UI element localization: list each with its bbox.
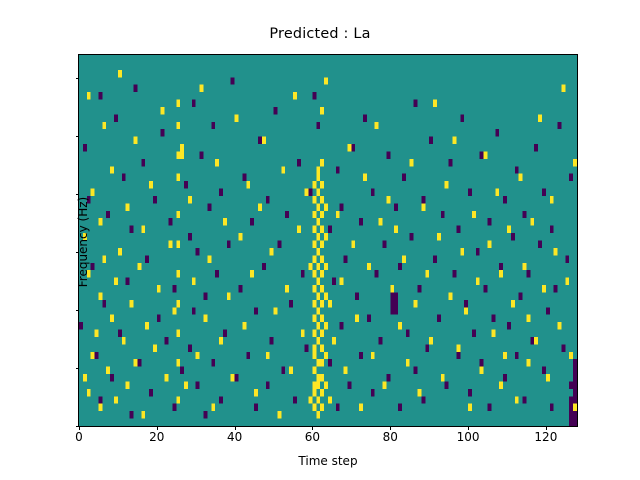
heatmap-cell-high (91, 189, 95, 196)
heatmap-cell-low (192, 307, 196, 314)
heatmap-cell-high (320, 344, 324, 351)
heatmap-cell-low (421, 396, 425, 403)
heatmap-cell-low (254, 307, 258, 314)
heatmap-cell-low (219, 189, 223, 196)
heatmap-cell-low (301, 270, 305, 277)
heatmap-cell-low (565, 255, 569, 262)
heatmap-cell-low (305, 344, 309, 351)
heatmap-cell-low (503, 196, 507, 203)
heatmap-cell-low (188, 233, 192, 240)
x-tick-mark (79, 426, 80, 430)
heatmap-cell-low (499, 263, 503, 270)
heatmap-cell-low (449, 159, 453, 166)
heatmap-cell-high (312, 285, 316, 292)
heatmap-cell-high (523, 263, 527, 270)
y-tick-mark (76, 252, 80, 253)
heatmap-cell-low (157, 315, 161, 322)
heatmap-cell-high (394, 226, 398, 233)
heatmap-cell-high (425, 270, 429, 277)
heatmap-cell-low (398, 404, 402, 411)
heatmap-cell-low (464, 300, 468, 307)
heatmap-cell-low (382, 241, 386, 248)
heatmap-cell-high (488, 241, 492, 248)
heatmap-cell-low (223, 330, 227, 337)
heatmap-cell-high (312, 226, 316, 233)
heatmap-cell-high (172, 307, 176, 314)
heatmap-cell-low (468, 189, 472, 196)
heatmap-cell-low (274, 107, 278, 114)
heatmap-cell-high (554, 248, 558, 255)
heatmap-cell-high (456, 344, 460, 351)
heatmap-cell-high (550, 196, 554, 203)
heatmap-cell-low (246, 352, 250, 359)
heatmap-cell-high (312, 211, 316, 218)
heatmap-cell-high (312, 389, 316, 396)
heatmap-cell-high (460, 248, 464, 255)
x-tick-label: 60 (272, 430, 352, 444)
heatmap-cell-high (511, 300, 515, 307)
heatmap-cell-high (235, 114, 239, 121)
heatmap-cell-high (402, 255, 406, 262)
heatmap-cell-low (102, 300, 106, 307)
heatmap-axes: Frequency (Hz) Time step 020406080100120… (78, 54, 578, 427)
x-tick-mark (468, 426, 469, 430)
heatmap-cell-low (211, 122, 215, 129)
heatmap-cell-low (569, 396, 573, 403)
heatmap-cell-low (200, 151, 204, 158)
heatmap-cell-high (476, 278, 480, 285)
y-tick-mark (76, 426, 80, 427)
heatmap-cell-high (316, 248, 320, 255)
heatmap-cell-low (293, 396, 297, 403)
heatmap-cell-high (141, 226, 145, 233)
heatmap-cell-high (320, 159, 324, 166)
heatmap-cell-high (421, 203, 425, 210)
heatmap-cell-low (445, 381, 449, 388)
heatmap-cell-low (250, 218, 254, 225)
heatmap-cell-high (114, 396, 118, 403)
heatmap-cell-low (456, 226, 460, 233)
heatmap-cell-low (425, 344, 429, 351)
heatmap-cell-high (98, 218, 102, 225)
heatmap-cell-high (526, 359, 530, 366)
heatmap-cell-high (379, 218, 383, 225)
heatmap-cell-high (106, 367, 110, 374)
heatmap-cell-low (227, 241, 231, 248)
heatmap-cell-high (316, 337, 320, 344)
heatmap-cell-low (95, 352, 99, 359)
heatmap-cell-high (320, 359, 324, 366)
heatmap-cell-low (390, 292, 394, 299)
heatmap-cell-low (523, 211, 527, 218)
heatmap-cell-low (180, 367, 184, 374)
heatmap-cell-high (316, 292, 320, 299)
heatmap-cell-low (488, 218, 492, 225)
heatmap-cell-high (320, 300, 324, 307)
heatmap-cell-high (406, 359, 410, 366)
heatmap-cell-high (561, 85, 565, 92)
x-tick-mark (390, 426, 391, 430)
heatmap-cell-high (176, 330, 180, 337)
heatmap-cell-high (320, 374, 324, 381)
heatmap-cell-low (126, 278, 130, 285)
heatmap-cell-high (499, 381, 503, 388)
heatmap-cell-high (316, 174, 320, 181)
heatmap-cell-low (429, 137, 433, 144)
heatmap-cell-high (316, 307, 320, 314)
heatmap-cell-low (569, 381, 573, 388)
heatmap-cell-low (394, 307, 398, 314)
heatmap-cell-low (188, 344, 192, 351)
heatmap-cell-low (390, 307, 394, 314)
heatmap-cell-high (215, 159, 219, 166)
heatmap-cell-high (192, 278, 196, 285)
heatmap-cell-low (414, 367, 418, 374)
heatmap-cell-high (503, 352, 507, 359)
heatmap-cell-high (316, 263, 320, 270)
heatmap-cell-high (336, 211, 340, 218)
heatmap-cell-high (320, 315, 324, 322)
heatmap-cell-low (515, 166, 519, 173)
heatmap-cell-high (363, 174, 367, 181)
heatmap-cell-high (168, 241, 172, 248)
heatmap-cell-low (414, 100, 418, 107)
heatmap-cell-high (176, 359, 180, 366)
heatmap-cell-low (569, 411, 573, 418)
heatmap-cell-low (239, 285, 243, 292)
heatmap-cell-low (386, 374, 390, 381)
heatmap-cell-high (102, 122, 106, 129)
heatmap-cell-high (546, 374, 550, 381)
heatmap-cell-low (133, 85, 137, 92)
heatmap-cell-low (207, 203, 211, 210)
heatmap-cell-low (231, 77, 235, 84)
heatmap-cell-high (188, 196, 192, 203)
heatmap-cell-high (565, 278, 569, 285)
heatmap-cell-high (176, 241, 180, 248)
heatmap-cell-low (573, 367, 577, 374)
y-tick-mark (76, 136, 80, 137)
heatmap-cell-high (176, 270, 180, 277)
heatmap-cell-high (312, 344, 316, 351)
heatmap-cell-low (297, 159, 301, 166)
heatmap-cell-low (309, 189, 313, 196)
heatmap-cell-high (176, 396, 180, 403)
heatmap-cell-low (211, 359, 215, 366)
heatmap-cell-low (491, 315, 495, 322)
heatmap-cell-low (130, 411, 134, 418)
heatmap-cell-low (523, 396, 527, 403)
heatmap-cell-low (281, 367, 285, 374)
heatmap-cell-low (421, 196, 425, 203)
heatmap-cell-high (386, 196, 390, 203)
heatmap-cell-low (312, 92, 316, 99)
heatmap-cell-high (328, 300, 332, 307)
heatmap-cell-low (161, 129, 165, 136)
heatmap-cell-low (172, 285, 176, 292)
heatmap-cell-low (441, 211, 445, 218)
heatmap-cell-high (398, 322, 402, 329)
heatmap-cell-low (386, 151, 390, 158)
heatmap-cell-high (453, 137, 457, 144)
heatmap-cell-high (316, 233, 320, 240)
heatmap-cell-high (211, 404, 215, 411)
heatmap-cell-high (316, 374, 320, 381)
heatmap-cell-high (480, 367, 484, 374)
heatmap-cell-low (145, 255, 149, 262)
heatmap-cell-high (320, 107, 324, 114)
heatmap-cell-high (499, 270, 503, 277)
heatmap-cell-high (277, 411, 281, 418)
x-tick-mark (312, 426, 313, 430)
heatmap-cell-low (141, 159, 145, 166)
heatmap-cell-low (215, 270, 219, 277)
x-tick-label: 100 (428, 430, 508, 444)
heatmap-cell-high (312, 181, 316, 188)
heatmap-cell-high (484, 151, 488, 158)
heatmap-cell-high (176, 300, 180, 307)
heatmap-cell-low (468, 389, 472, 396)
heatmap-cell-high (312, 315, 316, 322)
heatmap-cell-low (359, 352, 363, 359)
heatmap-cell-high (223, 218, 227, 225)
heatmap-cell-high (126, 381, 130, 388)
heatmap-cell-high (347, 144, 351, 151)
heatmap-cell-high (410, 159, 414, 166)
x-tick-label: 80 (350, 430, 430, 444)
heatmap-cell-high (324, 77, 328, 84)
heatmap-cell-high (417, 389, 421, 396)
heatmap-cell-high (207, 255, 211, 262)
heatmap-cell-low (204, 292, 208, 299)
chart-title: Predicted : La (0, 26, 640, 42)
heatmap-cell-low (511, 233, 515, 240)
heatmap-cell-low (91, 263, 95, 270)
heatmap-cell-high (519, 174, 523, 181)
heatmap-cell-high (445, 181, 449, 188)
heatmap-cell-high (324, 381, 328, 388)
heatmap-cell-low (153, 196, 157, 203)
heatmap-cell-low (262, 263, 266, 270)
heatmap-cell-low (184, 181, 188, 188)
heatmap-cell-high (133, 359, 137, 366)
heatmap-cell-low (266, 381, 270, 388)
heatmap-cell-high (254, 389, 258, 396)
heatmap-cell-low (355, 292, 359, 299)
heatmap-cell-high (320, 404, 324, 411)
heatmap-cell-high (161, 107, 165, 114)
heatmap-cell-low (546, 307, 550, 314)
heatmap-cell-high (316, 322, 320, 329)
heatmap-cell-low (542, 189, 546, 196)
heatmap-cell-low (328, 359, 332, 366)
heatmap-cell-low (367, 315, 371, 322)
heatmap-cell-high (320, 255, 324, 262)
heatmap-cell-low (484, 285, 488, 292)
heatmap-cell-high (200, 85, 204, 92)
heatmap-cell-high (472, 211, 476, 218)
heatmap-cell-low (569, 404, 573, 411)
heatmap-cell-high (495, 189, 499, 196)
heatmap-cell-high (176, 211, 180, 218)
heatmap-cell-low (406, 330, 410, 337)
heatmap-cell-high (433, 100, 437, 107)
heatmap-cell-low (573, 374, 577, 381)
heatmap-cell-high (102, 255, 106, 262)
heatmap-cell-high (153, 344, 157, 351)
heatmap-cell-high (110, 315, 114, 322)
heatmap-cell-low (503, 374, 507, 381)
heatmap-cell-high (157, 285, 161, 292)
heatmap-cell-low (573, 359, 577, 366)
heatmap-cell-low (340, 322, 344, 329)
heatmap-cell-high (538, 114, 542, 121)
heatmap-cell-high (375, 122, 379, 129)
heatmap-cell-high (137, 263, 141, 270)
heatmap-cell-high (312, 300, 316, 307)
heatmap-cell-low (480, 359, 484, 366)
x-tick-mark (546, 426, 547, 430)
heatmap-cell-low (285, 211, 289, 218)
heatmap-cell-high (320, 389, 324, 396)
heatmap-cell-high (114, 278, 118, 285)
heatmap-cell-high (176, 174, 180, 181)
heatmap-cell-high (312, 352, 316, 359)
heatmap-cell-low (347, 381, 351, 388)
heatmap-cell-low (106, 211, 110, 218)
heatmap-cell-high (324, 203, 328, 210)
heatmap-cell-low (573, 396, 577, 403)
heatmap-cell-high (262, 137, 266, 144)
heatmap-cell-high (441, 374, 445, 381)
heatmap-cell-high (320, 211, 324, 218)
heatmap-cell-low (538, 241, 542, 248)
heatmap-cell-high (231, 374, 235, 381)
heatmap-cell-low (168, 218, 172, 225)
heatmap-cell-high (312, 404, 316, 411)
heatmap-cell-high (320, 196, 324, 203)
heatmap-cell-low (476, 248, 480, 255)
heatmap-cell-high (316, 278, 320, 285)
heatmap-cell-high (165, 374, 169, 381)
heatmap-cell-high (491, 330, 495, 337)
heatmap-cell-high (118, 70, 122, 77)
heatmap-cell-low (550, 226, 554, 233)
heatmap-cell-low (371, 189, 375, 196)
heatmap-cell-high (204, 315, 208, 322)
heatmap-cell-high (281, 166, 285, 173)
heatmap-cell-low (573, 389, 577, 396)
heatmap-cell-low (569, 419, 573, 426)
heatmap-cell-low (336, 166, 340, 173)
heatmap-cell-high (320, 285, 324, 292)
heatmap-cell-low (542, 367, 546, 374)
heatmap-cell-high (312, 330, 316, 337)
heatmap-cell-high (324, 233, 328, 240)
heatmap-cell-high (316, 218, 320, 225)
heatmap-cell-high (242, 322, 246, 329)
heatmap-cell-high (270, 248, 274, 255)
heatmap-cell-high (414, 300, 418, 307)
heatmap-cell-high (176, 122, 180, 129)
heatmap-cell-high (316, 203, 320, 210)
heatmap-cell-high (507, 226, 511, 233)
heatmap-cell-high (91, 352, 95, 359)
heatmap-cell-low (130, 226, 134, 233)
heatmap-cell-high (227, 292, 231, 299)
heatmap-cell-low (114, 114, 118, 121)
heatmap-cell-high (569, 352, 573, 359)
heatmap-cell-low (371, 389, 375, 396)
heatmap-cell-high (258, 203, 262, 210)
heatmap-cell-high (126, 203, 130, 210)
heatmap-cell-low (379, 337, 383, 344)
heatmap-cell-high (320, 270, 324, 277)
heatmap-cell-low (110, 374, 114, 381)
heatmap-cell-low (242, 174, 246, 181)
heatmap-cell-high (344, 367, 348, 374)
heatmap-cell-high (558, 322, 562, 329)
heatmap-cell-low (507, 322, 511, 329)
heatmap-cell-high (180, 151, 184, 158)
heatmap-cell-high (316, 359, 320, 366)
heatmap-cell-high (542, 285, 546, 292)
heatmap-cell-low (456, 352, 460, 359)
y-tick-mark (76, 368, 80, 369)
heatmap-cell-low (266, 196, 270, 203)
heatmap-cell-low (519, 292, 523, 299)
heatmap-cell-high (320, 226, 324, 233)
x-tick-mark (235, 426, 236, 430)
heatmap-cell-high (219, 337, 223, 344)
heatmap-cell-low (554, 285, 558, 292)
heatmap-cell-high (534, 337, 538, 344)
heatmap-cell-high (312, 381, 316, 388)
heatmap-image (79, 55, 577, 426)
heatmap-cell-high (285, 285, 289, 292)
heatmap-cell-low (488, 404, 492, 411)
heatmap-cell-high (274, 307, 278, 314)
x-axis-label: Time step (79, 454, 577, 468)
heatmap-cell-high (133, 137, 137, 144)
heatmap-cell-high (301, 330, 305, 337)
heatmap-cell-high (355, 315, 359, 322)
heatmap-cell-low (526, 270, 530, 277)
heatmap-cell-low (258, 137, 262, 144)
heatmap-cell-high (180, 144, 184, 151)
heatmap-cell-low (569, 174, 573, 181)
heatmap-cell-low (204, 411, 208, 418)
heatmap-cell-high (468, 404, 472, 411)
x-tick-label: 0 (39, 430, 119, 444)
y-axis-label: Frequency (Hz) (76, 56, 90, 428)
heatmap-cell-low (340, 203, 344, 210)
heatmap-cell-low (480, 151, 484, 158)
heatmap-cell-high (320, 330, 324, 337)
heatmap-cell-low (149, 389, 153, 396)
heatmap-cell-low (122, 174, 126, 181)
heatmap-cell-low (344, 255, 348, 262)
heatmap-cell-low (219, 396, 223, 403)
heatmap-cell-low (390, 300, 394, 307)
heatmap-cell-low (417, 285, 421, 292)
heatmap-cell-high (98, 404, 102, 411)
heatmap-cell-high (320, 241, 324, 248)
heatmap-cell-low (192, 100, 196, 107)
heatmap-cell-high (149, 181, 153, 188)
heatmap-cell-low (254, 404, 258, 411)
heatmap-cell-high (515, 396, 519, 403)
